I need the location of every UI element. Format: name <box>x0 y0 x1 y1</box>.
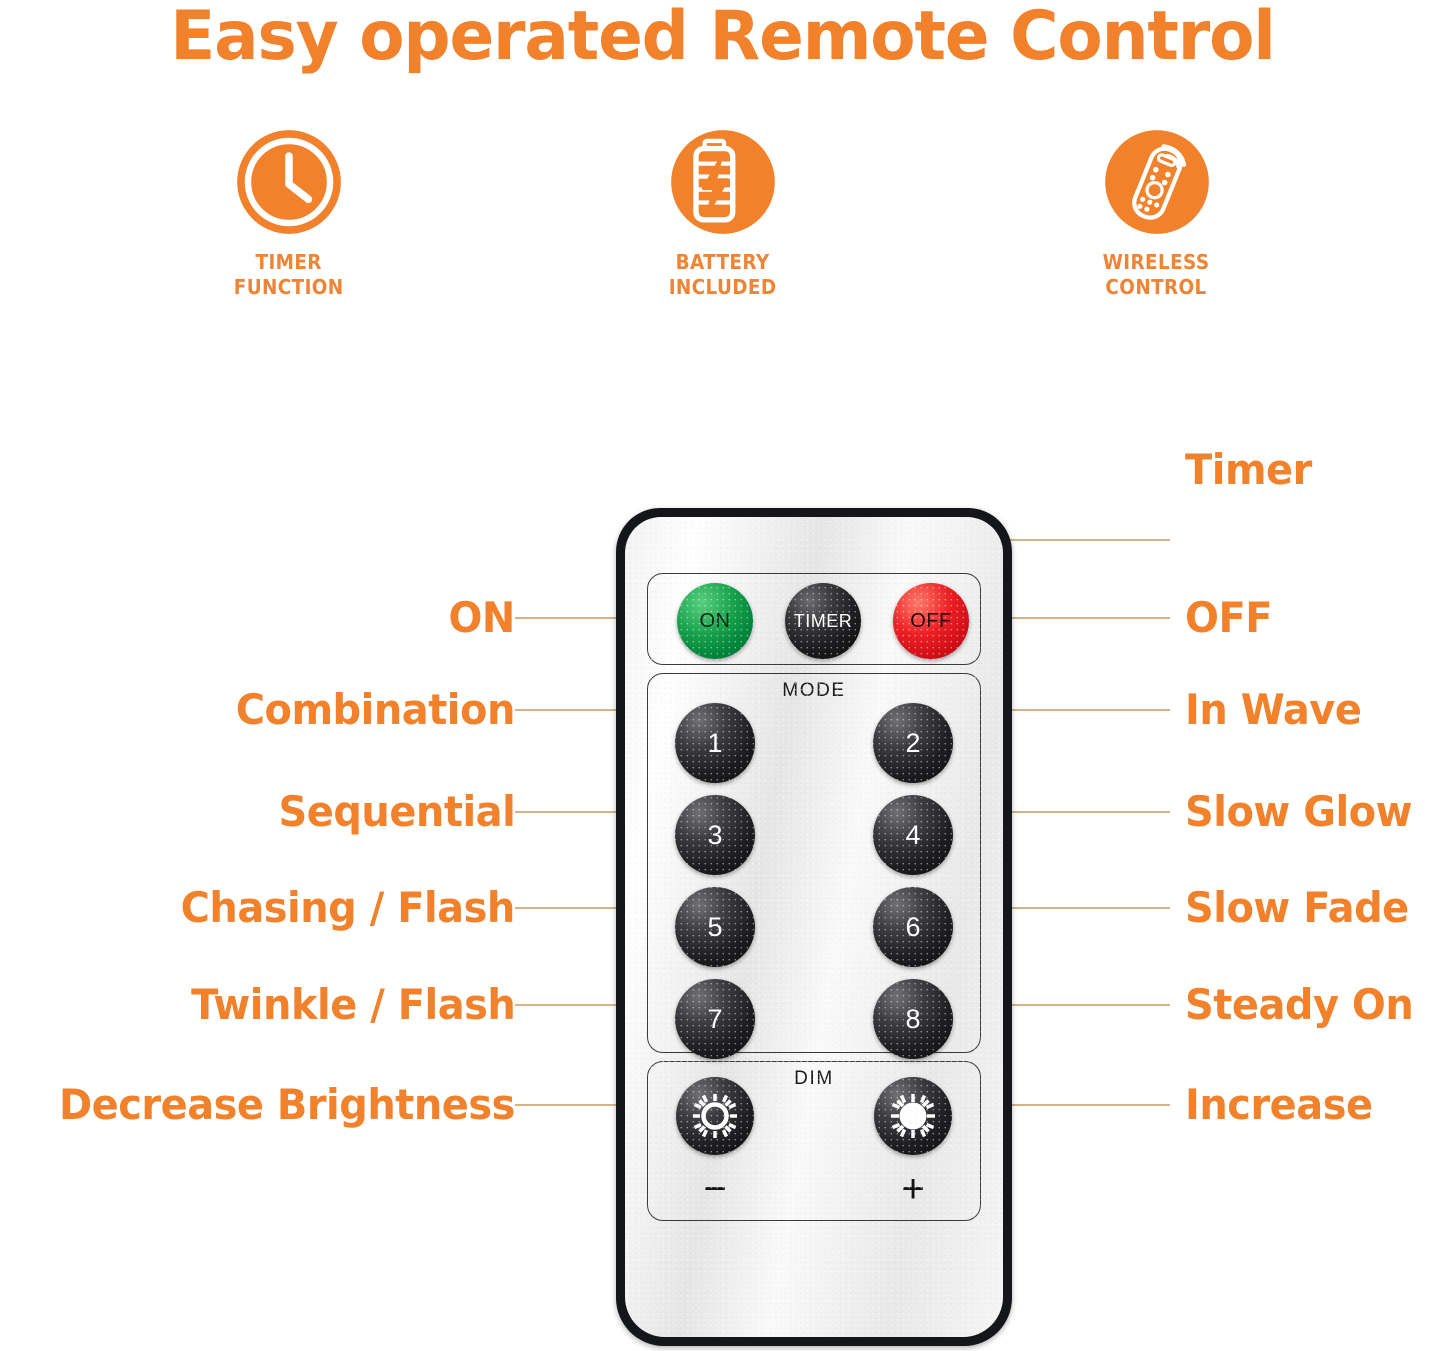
callout-combination: Combination <box>236 686 515 734</box>
mode-button-label: 2 <box>905 728 920 759</box>
mode-button-6[interactable]: 6 <box>873 887 953 967</box>
callout-timer: Timer <box>1185 446 1312 494</box>
battery-icon <box>669 128 777 236</box>
feature-timer-function: TIMER FUNCTION <box>189 128 389 318</box>
off-button-label: OFF <box>910 610 952 633</box>
timer-button-label: TIMER <box>794 611 853 632</box>
mode-button-label: 5 <box>707 912 722 943</box>
callout-in-wave: In Wave <box>1185 686 1361 734</box>
mode-button-1[interactable]: 1 <box>675 703 755 783</box>
off-button[interactable]: OFF <box>893 583 969 659</box>
callout-on: ON <box>449 594 515 642</box>
remote-control: ON TIMER OFF MODE 1 2 3 4 <box>616 508 1012 1346</box>
dim-minus-sign: − <box>676 1169 754 1209</box>
feature-battery-included: BATTERY INCLUDED <box>623 128 823 318</box>
callout-steady-on: Steady On <box>1185 981 1413 1029</box>
sun-bright-icon <box>888 1091 938 1141</box>
callout-twinkle-flash: Twinkle / Flash <box>191 981 515 1029</box>
mode-panel-title: MODE <box>648 680 980 702</box>
feature-label: TIMER FUNCTION <box>234 250 344 300</box>
dim-decrease-button[interactable] <box>676 1077 754 1155</box>
on-button-label: ON <box>700 610 731 633</box>
mode-button-8[interactable]: 8 <box>873 979 953 1059</box>
mode-button-label: 4 <box>905 820 920 851</box>
mode-button-4[interactable]: 4 <box>873 795 953 875</box>
dim-plus-sign: + <box>874 1169 952 1209</box>
mode-button-label: 6 <box>905 912 920 943</box>
infographic-canvas: Easy operated Remote Control TIMER FUNCT… <box>0 0 1445 1351</box>
feature-label: WIRELESS CONTROL <box>1103 250 1210 300</box>
feature-label: BATTERY INCLUDED <box>669 250 777 300</box>
callout-decrease-brightness: Decrease Brightness <box>59 1081 515 1129</box>
feature-badges: TIMER FUNCTION BATTERY INCLUDED <box>0 128 1445 318</box>
feature-wireless-control: WIRELESS CONTROL <box>1057 128 1257 318</box>
mode-button-label: 7 <box>707 1004 722 1035</box>
on-button[interactable]: ON <box>677 583 753 659</box>
remote-icon <box>1103 128 1211 236</box>
mode-button-label: 8 <box>905 1004 920 1035</box>
callout-sequential: Sequential <box>278 788 515 836</box>
callout-off: OFF <box>1185 594 1272 642</box>
mode-button-7[interactable]: 7 <box>675 979 755 1059</box>
mode-button-label: 3 <box>707 820 722 851</box>
sun-dim-icon <box>690 1091 740 1141</box>
callout-chasing-flash: Chasing / Flash <box>181 884 515 932</box>
timer-button[interactable]: TIMER <box>785 583 861 659</box>
mode-button-5[interactable]: 5 <box>675 887 755 967</box>
mode-button-2[interactable]: 2 <box>873 703 953 783</box>
mode-button-label: 1 <box>707 728 722 759</box>
dim-increase-button[interactable] <box>874 1077 952 1155</box>
callout-increase: Increase <box>1185 1081 1373 1129</box>
mode-button-3[interactable]: 3 <box>675 795 755 875</box>
remote-face: ON TIMER OFF MODE 1 2 3 4 <box>625 517 1003 1337</box>
page-title: Easy operated Remote Control <box>22 0 1424 78</box>
callout-slow-glow: Slow Glow <box>1185 788 1412 836</box>
callout-slow-fade: Slow Fade <box>1185 884 1409 932</box>
clock-icon <box>235 128 343 236</box>
